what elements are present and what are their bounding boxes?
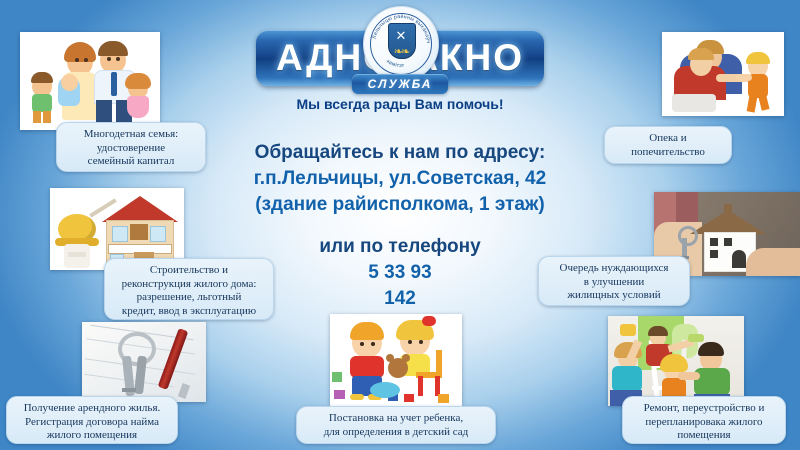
caption-renovation: Ремонт, переустройство и перепланировака… [622, 396, 786, 444]
sluzhba-badge: СЛУЖБА [352, 74, 448, 94]
svg-text:камітэт: камітэт [385, 59, 405, 69]
caption-line: в улучшении [547, 276, 681, 290]
caption-line: жилищных условий [547, 289, 681, 303]
caption-line: Многодетная семья: [65, 128, 197, 142]
caption-line: удостоверение [65, 142, 197, 156]
caption-line: Строительство и [113, 264, 265, 278]
caption-large-family: Многодетная семья: удостоверение семейны… [56, 122, 206, 172]
caption-line: Опека и [613, 132, 723, 146]
caption-line: Регистрация договора найма [15, 416, 169, 430]
caption-rental-housing: Получение арендного жилья. Регистрация д… [6, 396, 178, 444]
photo-kindergarten-registration [330, 314, 462, 406]
caption-line: перепланировака жилого [631, 416, 777, 430]
caption-line: Ремонт, переустройство и [631, 402, 777, 416]
emblem-bird-icon: ✕ [390, 31, 412, 41]
caption-line: разрешение, льготный [113, 291, 265, 305]
caption-line: для определения в детский сад [305, 426, 487, 440]
caption-line: Получение арендного жилья. [15, 402, 169, 416]
caption-line: реконструкция жилого дома: [113, 278, 265, 292]
caption-housing-queue: Очередь нуждающихся в улучшении жилищных… [538, 256, 690, 306]
caption-line: кредит, ввод в эксплуатацию [113, 305, 265, 319]
address-line-1: г.п.Лельчицы, ул.Советская, 42 [200, 166, 600, 192]
photo-renovation [608, 316, 744, 406]
photo-rental-housing [82, 322, 206, 402]
caption-line: Очередь нуждающихся [547, 262, 681, 276]
caption-line: жилого помещения [15, 429, 169, 443]
caption-line: семейный капитал [65, 155, 197, 169]
caption-line: попечительство [613, 146, 723, 160]
address-heading: Обращайтесь к нам по адресу: [200, 140, 600, 166]
photo-large-family [20, 32, 160, 130]
address-line-2: (здание райисполкома, 1 этаж) [200, 192, 600, 218]
emblem-wreath-icon: ❧❧ [388, 45, 414, 59]
caption-house-construction: Строительство и реконструкция жилого дом… [104, 258, 274, 320]
caption-line: помещения [631, 429, 777, 443]
caption-kindergarten-registration: Постановка на учет ребенка, для определе… [296, 406, 496, 444]
caption-line: Постановка на учет ребенка, [305, 412, 487, 426]
phone-heading: или по телефону [200, 234, 600, 260]
coat-of-arms-icon: Лельчыцкі раённы выканаўчы камітэт ✕ ❧❧ [363, 6, 439, 82]
poster-canvas: АДНО АКНО Лельчыцкі раённы выканаўчы кам… [0, 0, 800, 450]
photo-guardianship [662, 32, 784, 116]
caption-guardianship: Опека и попечительство [604, 126, 732, 164]
